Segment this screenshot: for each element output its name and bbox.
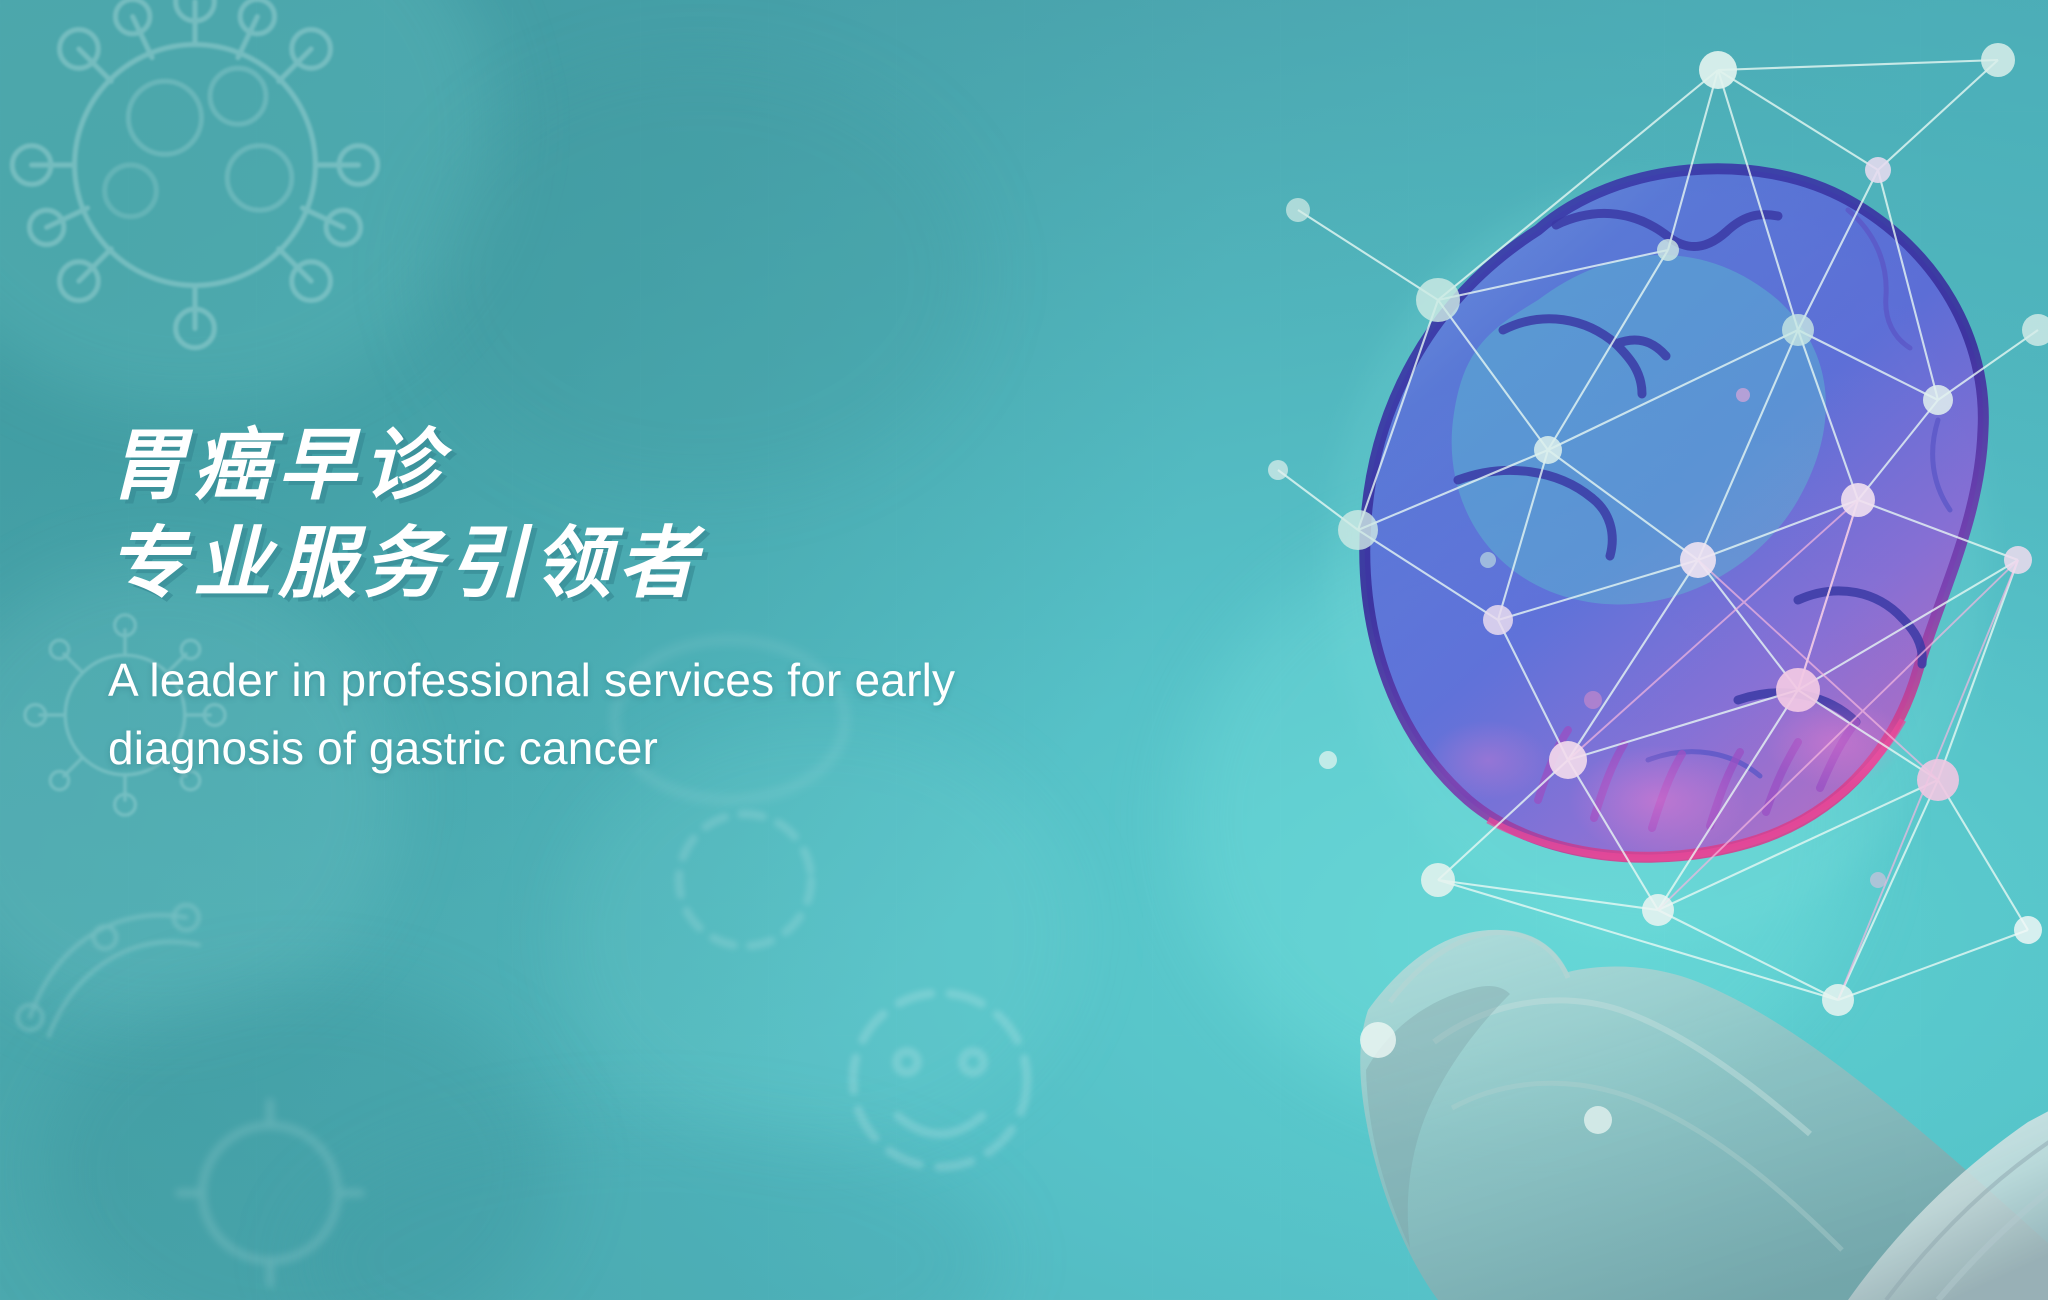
hero-banner: 胃癌早诊 专业服务引领者 A leader in professional se… <box>0 0 2048 1300</box>
subtitle-en-line-1: A leader in professional services for ea… <box>108 646 1118 714</box>
subtitle-en-line-2: diagnosis of gastric cancer <box>108 714 1118 782</box>
headline-cn-line-2: 专业服务引领者 <box>108 516 1158 612</box>
subtitle-block: A leader in professional services for ea… <box>108 646 1118 782</box>
headline-block: 胃癌早诊 专业服务引领者 A leader in professional se… <box>108 418 1158 782</box>
headline-cn-line-1: 胃癌早诊 <box>108 418 1158 514</box>
